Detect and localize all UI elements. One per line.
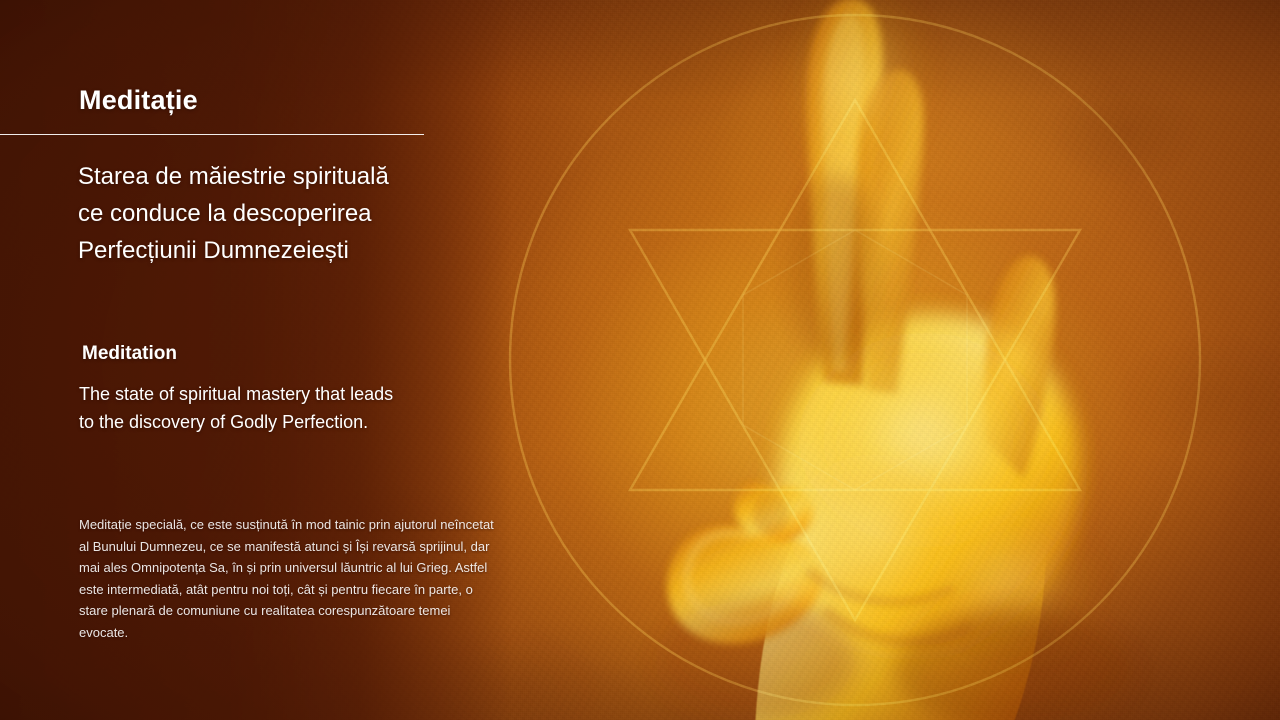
mudra-hand-artwork [455, 0, 1255, 720]
hexagram-yantra-overlay [455, 8, 1255, 712]
body-paragraph-romanian: Meditație specială, ce este susținută în… [79, 514, 503, 643]
heading-english: Meditation [82, 343, 177, 365]
text-content-column: Meditație Starea de măiestrie spirituală… [0, 0, 520, 720]
slide-title: Meditație [79, 85, 198, 116]
subtitle-romanian: Starea de măiestrie spirituală ce conduc… [78, 158, 418, 269]
subtitle-english: The state of spiritual mastery that lead… [79, 381, 409, 436]
title-divider-rule [0, 134, 424, 135]
slide-canvas: Meditație Starea de măiestrie spirituală… [0, 0, 1280, 720]
